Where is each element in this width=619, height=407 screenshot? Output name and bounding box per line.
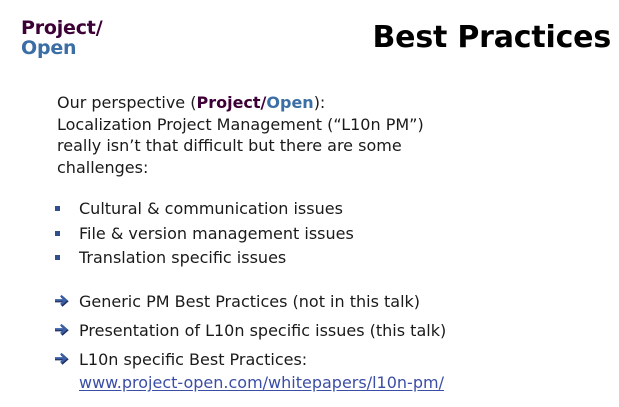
intro-line-4: challenges: [57, 157, 577, 179]
page-title: Best Practices [373, 20, 611, 56]
outline-arrow-list: Generic PM Best Practices (not in this t… [55, 291, 595, 394]
intro-paragraph: Our perspective (Project/Open): Localiza… [57, 92, 577, 178]
logo-line-open: Open [21, 38, 102, 58]
project-open-logo: Project/ Open [21, 18, 102, 58]
list-item-label: Translation specific issues [79, 248, 286, 267]
intro-line-3: really isn’t that difficult but there ar… [57, 135, 577, 157]
list-item: Cultural & communication issues [55, 198, 575, 223]
list-item: Generic PM Best Practices (not in this t… [55, 291, 595, 313]
list-item-label: Presentation of L10n specific issues (th… [79, 321, 446, 340]
list-item: Translation specific issues [55, 247, 575, 272]
square-bullet-icon [55, 255, 60, 260]
whitepaper-link-line: www.project-open.com/whitepapers/l10n-pm… [79, 372, 595, 394]
intro-line-1: Our perspective (Project/Open): [57, 92, 577, 114]
list-item-label: File & version management issues [79, 224, 354, 243]
intro-line-2: Localization Project Management (“L10n P… [57, 114, 577, 136]
list-item-label: L10n specific Best Practices: [79, 350, 307, 369]
logo-line-project: Project/ [21, 18, 102, 38]
list-item: L10n specific Best Practices: www.projec… [55, 349, 595, 394]
square-bullet-icon [55, 206, 60, 211]
square-bullet-icon [55, 231, 60, 236]
list-item: File & version management issues [55, 223, 575, 248]
intro-line-1-suffix: ): [314, 93, 326, 112]
right-arrow-icon [55, 321, 73, 339]
challenges-bullet-list: Cultural & communication issues File & v… [55, 198, 575, 272]
whitepaper-url-link[interactable]: www.project-open.com/whitepapers/l10n-pm… [79, 373, 444, 392]
right-arrow-icon [55, 292, 73, 310]
inline-brand-open: Open [266, 93, 313, 112]
list-item-label: Cultural & communication issues [79, 199, 343, 218]
inline-brand-project: Project [196, 93, 260, 112]
slide-header: Project/ Open Best Practices [0, 0, 619, 78]
list-item-label: Generic PM Best Practices (not in this t… [79, 292, 420, 311]
right-arrow-icon [55, 350, 73, 368]
list-item: Presentation of L10n specific issues (th… [55, 320, 595, 342]
intro-line-1-prefix: Our perspective ( [57, 93, 196, 112]
